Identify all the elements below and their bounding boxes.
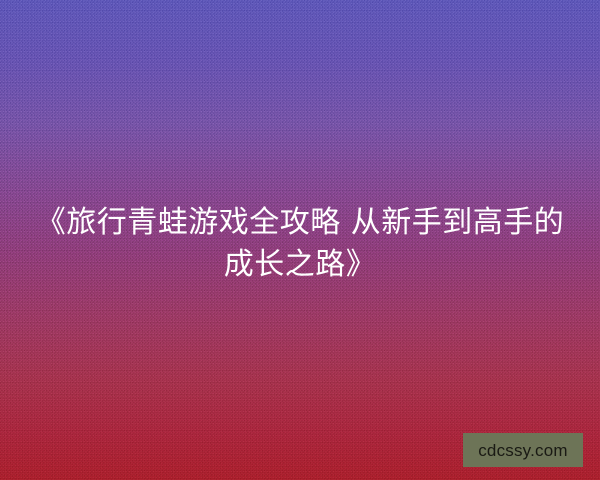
page-title: 《旅行青蛙游戏全攻略 从新手到高手的 成长之路》 [0,202,600,286]
title-line-1: 《旅行青蛙游戏全攻略 从新手到高手的 [28,202,572,244]
title-line-2: 成长之路》 [28,244,572,286]
watermark-text: cdcssy.com [478,442,568,459]
watermark-badge: cdcssy.com [463,433,583,467]
cover-image-canvas: 《旅行青蛙游戏全攻略 从新手到高手的 成长之路》 cdcssy.com [0,0,600,480]
